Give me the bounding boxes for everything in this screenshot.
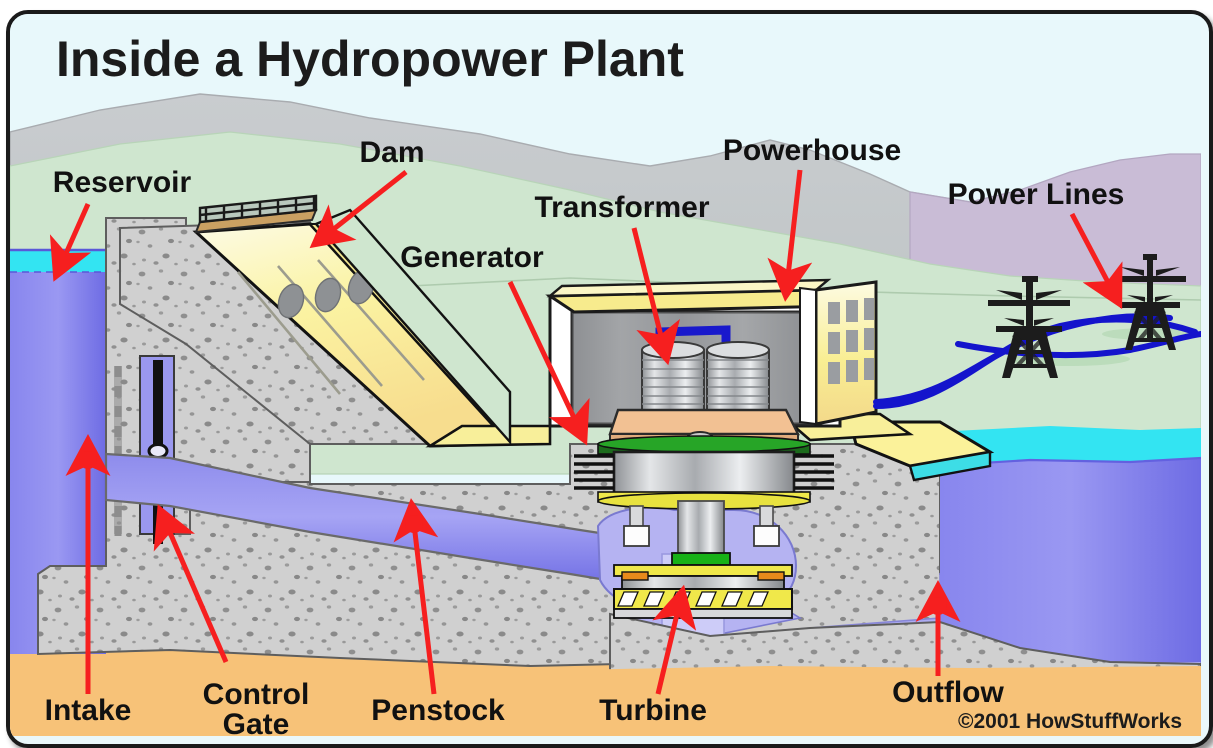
diagram-canvas: Inside a Hydropower Plant Reservoir Dam …: [0, 0, 1213, 748]
copyright-notice: ©2001 HowStuffWorks: [958, 710, 1182, 733]
label-powerhouse: Powerhouse: [723, 134, 901, 167]
label-outflow: Outflow: [892, 676, 1004, 709]
label-penstock: Penstock: [371, 694, 505, 727]
label-reservoir: Reservoir: [53, 166, 192, 199]
turbine-orange-left: [622, 572, 648, 580]
label-generator: Generator: [400, 241, 544, 274]
label-turbine: Turbine: [599, 694, 707, 727]
shaft-green-collar: [672, 553, 730, 565]
label-control-gate-line1: Control: [203, 678, 310, 711]
turbine-assembly: [614, 565, 792, 618]
label-control-gate-line2: Gate: [223, 708, 290, 736]
hydropower-illustration: Inside a Hydropower Plant Reservoir Dam …: [10, 14, 1201, 736]
transformer-base: [610, 410, 798, 434]
generator-shaft: [678, 501, 724, 559]
page-title: Inside a Hydropower Plant: [56, 31, 684, 87]
powerhouse-windows: [828, 298, 874, 384]
generator-housing: [614, 452, 794, 494]
label-power-lines: Power Lines: [948, 178, 1125, 211]
turbine-lower-ring: [614, 609, 792, 618]
control-gate-pivot: [149, 445, 167, 458]
label-dam: Dam: [359, 136, 424, 169]
reservoir-water-surface: [10, 250, 106, 272]
turbine-orange-right: [758, 572, 784, 580]
label-intake: Intake: [45, 694, 132, 727]
label-transformer: Transformer: [534, 191, 709, 224]
diagram-frame: Inside a Hydropower Plant Reservoir Dam …: [6, 10, 1213, 748]
powerhouse-endwall-white: [800, 288, 816, 424]
